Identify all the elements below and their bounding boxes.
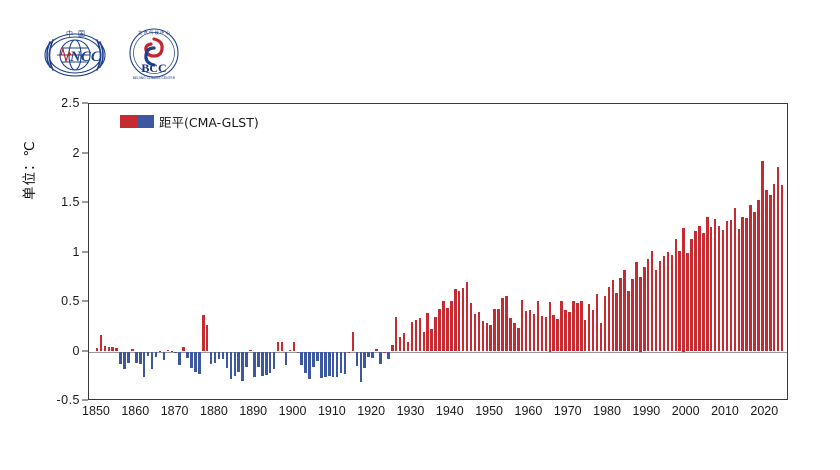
chart-bar (549, 302, 552, 352)
chart-bar (781, 185, 784, 351)
x-axis-tick-label: 2020 (750, 404, 778, 418)
chart-bar (167, 350, 170, 352)
x-axis-tick-label: 1980 (593, 404, 621, 418)
chart-bar (111, 347, 114, 352)
chart-bar (568, 312, 571, 352)
chart-bar (316, 352, 319, 362)
chart-bar (470, 303, 473, 352)
chart-bar (423, 332, 426, 352)
chart-bar (375, 349, 378, 352)
svg-text:国: 国 (78, 30, 85, 38)
chart-bar (619, 278, 622, 351)
chart-bar (501, 298, 504, 351)
logo-bar: 中 国 NCC BCC 北 京 气 候 中 心 BEIJING CLIMATE … (40, 22, 190, 84)
x-axis-tick-label: 1890 (239, 404, 267, 418)
chart-bar (639, 277, 642, 351)
bcc-logo-graphic: BCC 北 京 气 候 中 心 BEIJING CLIMATE CENTER (124, 25, 184, 81)
chart-bar (761, 161, 764, 351)
chart-bar (277, 342, 280, 352)
chart-bar (312, 352, 315, 368)
y-axis-tick-label: 0 (73, 344, 80, 358)
chart-bar (545, 317, 548, 352)
chart-bar (556, 319, 559, 352)
legend-label: 距平(CMA-GLST) (159, 112, 259, 131)
chart-bar (206, 325, 209, 352)
x-axis-tick-label: 2010 (711, 404, 739, 418)
x-axis-tick-label: 1970 (554, 404, 582, 418)
chart-bar (608, 287, 611, 351)
chart-bar (320, 352, 323, 379)
chart-bar (407, 342, 410, 352)
chart-bar (552, 315, 555, 352)
chart-bar (174, 352, 177, 354)
chart-bar (635, 262, 638, 351)
chart-bar (139, 352, 142, 365)
legend-swatch-positive (120, 115, 137, 128)
chart-bar (399, 337, 402, 352)
chart-bar (135, 352, 138, 364)
chart-bar (682, 228, 685, 352)
chart-bar (714, 219, 717, 352)
chart-bar (513, 323, 516, 352)
chart-bar (360, 352, 363, 383)
chart-plot-area (88, 103, 788, 400)
svg-text:NCC: NCC (69, 49, 102, 65)
bcc-logo: BCC 北 京 气 候 中 心 BEIJING CLIMATE CENTER (124, 25, 184, 81)
chart-bar (411, 322, 414, 352)
chart-bar (336, 352, 339, 378)
chart-bar (273, 352, 276, 370)
chart-bar (194, 352, 197, 373)
chart-bar (745, 218, 748, 352)
chart-bar (234, 352, 237, 377)
chart-bar (237, 352, 240, 373)
chart-bar (222, 352, 225, 360)
ncc-logo-graphic: 中 国 NCC (40, 25, 110, 81)
chart-bar (430, 329, 433, 352)
chart-bar (198, 352, 201, 375)
chart-bar (182, 347, 185, 352)
x-axis-tick-label: 1910 (318, 404, 346, 418)
chart-bar (706, 217, 709, 352)
chart-bar (293, 342, 296, 352)
x-axis-tick-label: 1930 (397, 404, 425, 418)
chart-bar (147, 352, 150, 357)
chart-bar (537, 301, 540, 351)
chart-bar (300, 352, 303, 366)
chart-bar (131, 349, 134, 352)
chart-bar (391, 345, 394, 352)
chart-bar (352, 332, 355, 352)
chart-bar (387, 352, 390, 360)
chart-bar (773, 184, 776, 351)
y-axis-tick-label: 1.5 (61, 195, 80, 209)
chart-bar (753, 212, 756, 352)
legend-swatch-negative (137, 115, 154, 128)
chart-bar (521, 300, 524, 351)
chart-bar (560, 301, 563, 351)
chart-bar (383, 352, 386, 353)
chart-bar (230, 352, 233, 380)
chart-bar (403, 333, 406, 352)
x-axis-tick-label: 1870 (161, 404, 189, 418)
chart-bar (241, 352, 244, 382)
chart-bar (647, 259, 650, 351)
chart-bar (741, 217, 744, 352)
chart-bar (769, 195, 772, 351)
chart-bar (269, 352, 272, 374)
bar-slot (780, 104, 784, 400)
chart-bar (765, 190, 768, 351)
chart-bar (308, 352, 311, 380)
x-axis-tick-label: 1920 (357, 404, 385, 418)
chart-bar (155, 352, 158, 358)
chart-bar (450, 301, 453, 351)
chart-bar (257, 352, 260, 368)
chart-bar (419, 318, 422, 352)
chart-bar (541, 316, 544, 352)
chart-bar (675, 239, 678, 352)
chart-bar (285, 352, 288, 366)
chart-bar (328, 352, 331, 377)
chart-bar (643, 267, 646, 351)
chart-bar (564, 310, 567, 352)
chart-bar (678, 251, 681, 352)
x-axis-tick-label: 1860 (121, 404, 149, 418)
chart-bar (690, 239, 693, 352)
chart-bar (367, 352, 370, 358)
chart-bar (127, 352, 130, 364)
x-axis-tick-label: 1950 (475, 404, 503, 418)
chart-bar (281, 342, 284, 352)
chart-bar (297, 352, 300, 354)
chart-bar (722, 230, 725, 352)
chart-bar (671, 255, 674, 351)
chart-bar (482, 321, 485, 352)
chart-bar (592, 310, 595, 352)
y-axis-ticks: 2.521.510.50-0.5 (50, 103, 88, 400)
chart-bar (509, 318, 512, 352)
x-axis-ticks: 1850186018701880189019001910192019301940… (88, 400, 788, 426)
chart-bar (667, 252, 670, 352)
chart-bar (304, 352, 307, 374)
chart-bar (115, 348, 118, 352)
chart-bar (245, 352, 248, 368)
chart-bar (580, 301, 583, 351)
plot-inner (89, 104, 787, 399)
chart-bar (395, 317, 398, 352)
chart-bar (517, 328, 520, 352)
y-axis-title: 单位：℃ (18, 140, 38, 200)
chart-bar (438, 309, 441, 352)
ncc-logo: 中 国 NCC (40, 25, 110, 81)
svg-text:BCC: BCC (141, 61, 166, 75)
chart-bar (596, 294, 599, 351)
chart-legend: 距平(CMA-GLST) (120, 112, 259, 131)
chart-bar (604, 296, 607, 351)
y-axis-tick-label: -0.5 (56, 393, 80, 407)
chart-bar (474, 314, 477, 352)
chart-bar (332, 352, 335, 378)
chart-page: 中 国 NCC BCC 北 京 气 候 中 心 BEIJING CLIMATE … (0, 0, 840, 470)
chart-bar (718, 226, 721, 352)
chart-bar (572, 301, 575, 351)
chart-bar (171, 351, 174, 352)
chart-bar (261, 352, 264, 377)
chart-bar (163, 352, 166, 361)
chart-bar (588, 304, 591, 352)
chart-bar (615, 293, 618, 351)
chart-bar (202, 315, 205, 352)
chart-bar (631, 279, 634, 351)
chart-bar (726, 221, 729, 352)
chart-bar (702, 233, 705, 352)
chart-bar (214, 352, 217, 364)
chart-bar (627, 291, 630, 351)
chart-bar (344, 352, 347, 375)
chart-bar (730, 220, 733, 352)
chart-bar (486, 323, 489, 352)
chart-bar (525, 311, 528, 352)
y-axis-tick-label: 2 (73, 146, 80, 160)
chart-bar (340, 352, 343, 374)
chart-bar (749, 205, 752, 352)
chart-bar (623, 270, 626, 351)
chart-bar (190, 352, 193, 369)
chart-bar (694, 231, 697, 352)
legend-swatch (120, 115, 154, 128)
svg-text:北 京 气 候 中 心: 北 京 气 候 中 心 (138, 29, 171, 36)
chart-bar (324, 352, 327, 378)
chart-bar (348, 352, 351, 353)
y-axis-tick-label: 0.5 (61, 294, 80, 308)
x-axis-tick-label: 2000 (672, 404, 700, 418)
chart-bar (655, 270, 658, 351)
chart-bar (434, 317, 437, 352)
chart-bar (265, 352, 268, 376)
bar-series (95, 104, 783, 400)
chart-bar (151, 352, 154, 370)
chart-bar (698, 226, 701, 352)
chart-bar (446, 308, 449, 352)
chart-bar (612, 280, 615, 351)
chart-bar (659, 261, 662, 351)
chart-bar (478, 312, 481, 352)
chart-bar (218, 352, 221, 360)
chart-bar (651, 251, 654, 352)
chart-bar (777, 167, 780, 351)
chart-bar (529, 310, 532, 352)
chart-bar (371, 352, 374, 359)
chart-bar (466, 282, 469, 351)
chart-bar (159, 351, 162, 352)
chart-bar (289, 350, 292, 352)
chart-bar (96, 348, 99, 352)
x-axis-tick-label: 1960 (515, 404, 543, 418)
chart-bar (442, 301, 445, 351)
chart-bar (249, 350, 252, 352)
chart-bar (600, 323, 603, 352)
chart-bar (100, 335, 103, 352)
chart-bar (458, 291, 461, 351)
chart-bar (226, 352, 229, 369)
y-axis-tick-label: 2.5 (61, 96, 80, 110)
chart-bar (738, 229, 741, 352)
x-axis-tick-label: 1880 (200, 404, 228, 418)
chart-bar (489, 325, 492, 352)
svg-text:中: 中 (66, 29, 73, 38)
chart-bar (686, 253, 689, 351)
x-axis-tick-label: 1940 (436, 404, 464, 418)
chart-bar (505, 296, 508, 351)
chart-bar (108, 347, 111, 352)
chart-bar (178, 352, 181, 366)
chart-bar (497, 309, 500, 352)
chart-bar (210, 352, 213, 365)
chart-bar (104, 346, 107, 352)
chart-bar (356, 352, 359, 367)
x-axis-tick-label: 1850 (82, 404, 110, 418)
y-axis-tick-label: 1 (73, 245, 80, 259)
chart-bar (710, 227, 713, 352)
chart-bar (379, 352, 382, 365)
svg-text:BEIJING CLIMATE CENTER: BEIJING CLIMATE CENTER (133, 76, 176, 80)
chart-bar (584, 320, 587, 352)
chart-bar (454, 289, 457, 351)
chart-bar (186, 352, 189, 359)
chart-bar (533, 314, 536, 352)
chart-bar (119, 352, 122, 365)
chart-bar (663, 256, 666, 351)
x-axis-tick-label: 1900 (279, 404, 307, 418)
chart-bar (462, 288, 465, 351)
x-axis-tick-label: 1990 (632, 404, 660, 418)
chart-bar (143, 352, 146, 378)
chart-bar (493, 309, 496, 352)
chart-bar (123, 352, 126, 370)
chart-bar (734, 208, 737, 352)
chart-bar (415, 320, 418, 352)
chart-bar (363, 352, 366, 369)
chart-bar (757, 200, 760, 351)
chart-bar (426, 313, 429, 352)
chart-bar (576, 303, 579, 352)
chart-bar (253, 352, 256, 378)
